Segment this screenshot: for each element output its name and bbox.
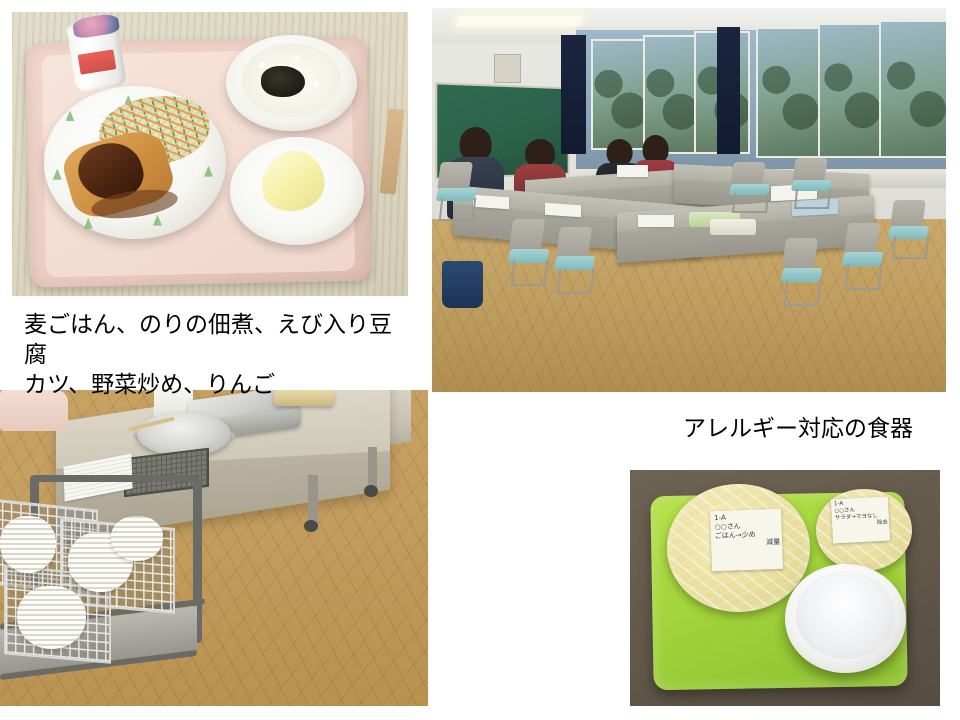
meeting-chair: [843, 223, 882, 288]
sample-lunch-tray: [710, 219, 756, 234]
meeting-chair: [555, 227, 594, 292]
school-lunch-tray-photo: [12, 12, 408, 296]
meeting-chair: [782, 238, 821, 303]
wall-speaker: [494, 54, 522, 83]
ceiling-light: [456, 16, 584, 26]
document-on-table: [638, 215, 674, 227]
meeting-chair: [730, 162, 769, 212]
white-bowl-interior: [796, 571, 895, 658]
lunch-menu-caption: 麦ごはん、のりの佃煮、えび入り豆腐 カツ、野菜炒め、りんご: [24, 310, 414, 400]
window-curtain: [717, 27, 740, 154]
allergy-tray-photo: 1-A ○○さん ごはん→少め 減量 1-A ○○さん サラダ→マヨなし 除去: [630, 470, 940, 706]
window-pane: [756, 27, 822, 158]
cart-handle: [30, 475, 201, 482]
stacked-bowls: [111, 516, 162, 560]
meeting-chair: [437, 162, 476, 220]
nori-tsukudani: [261, 66, 305, 97]
document-on-table: [545, 203, 581, 217]
allergy-tableware-caption: アレルギー対応の食器: [683, 414, 943, 444]
meeting-chair: [889, 200, 928, 258]
presentation-slide: 1-A ○○さん ごはん→少め 減量 1-A ○○さん サラダ→マヨなし 除去 …: [0, 0, 960, 720]
window-pane: [818, 23, 884, 158]
handbag: [442, 261, 483, 307]
allergy-label-rice-line-4: 減量: [715, 538, 780, 549]
allergy-label-salad: 1-A ○○さん サラダ→マヨなし 除去: [830, 497, 889, 544]
allergy-label-rice: 1-A ○○さん ごはん→少め 減量: [710, 509, 783, 571]
window-curtain: [561, 35, 587, 154]
window-pane: [879, 20, 946, 158]
meeting-chair: [509, 219, 548, 284]
meeting-room-photo: [432, 8, 946, 392]
stacked-bowls: [17, 586, 85, 649]
serving-cart-photo: [0, 390, 428, 706]
counter-leg: [308, 475, 317, 526]
window-pane: [591, 39, 646, 151]
meeting-chair: [792, 158, 831, 208]
stacked-bowls: [0, 516, 56, 573]
document-on-table: [617, 165, 648, 177]
